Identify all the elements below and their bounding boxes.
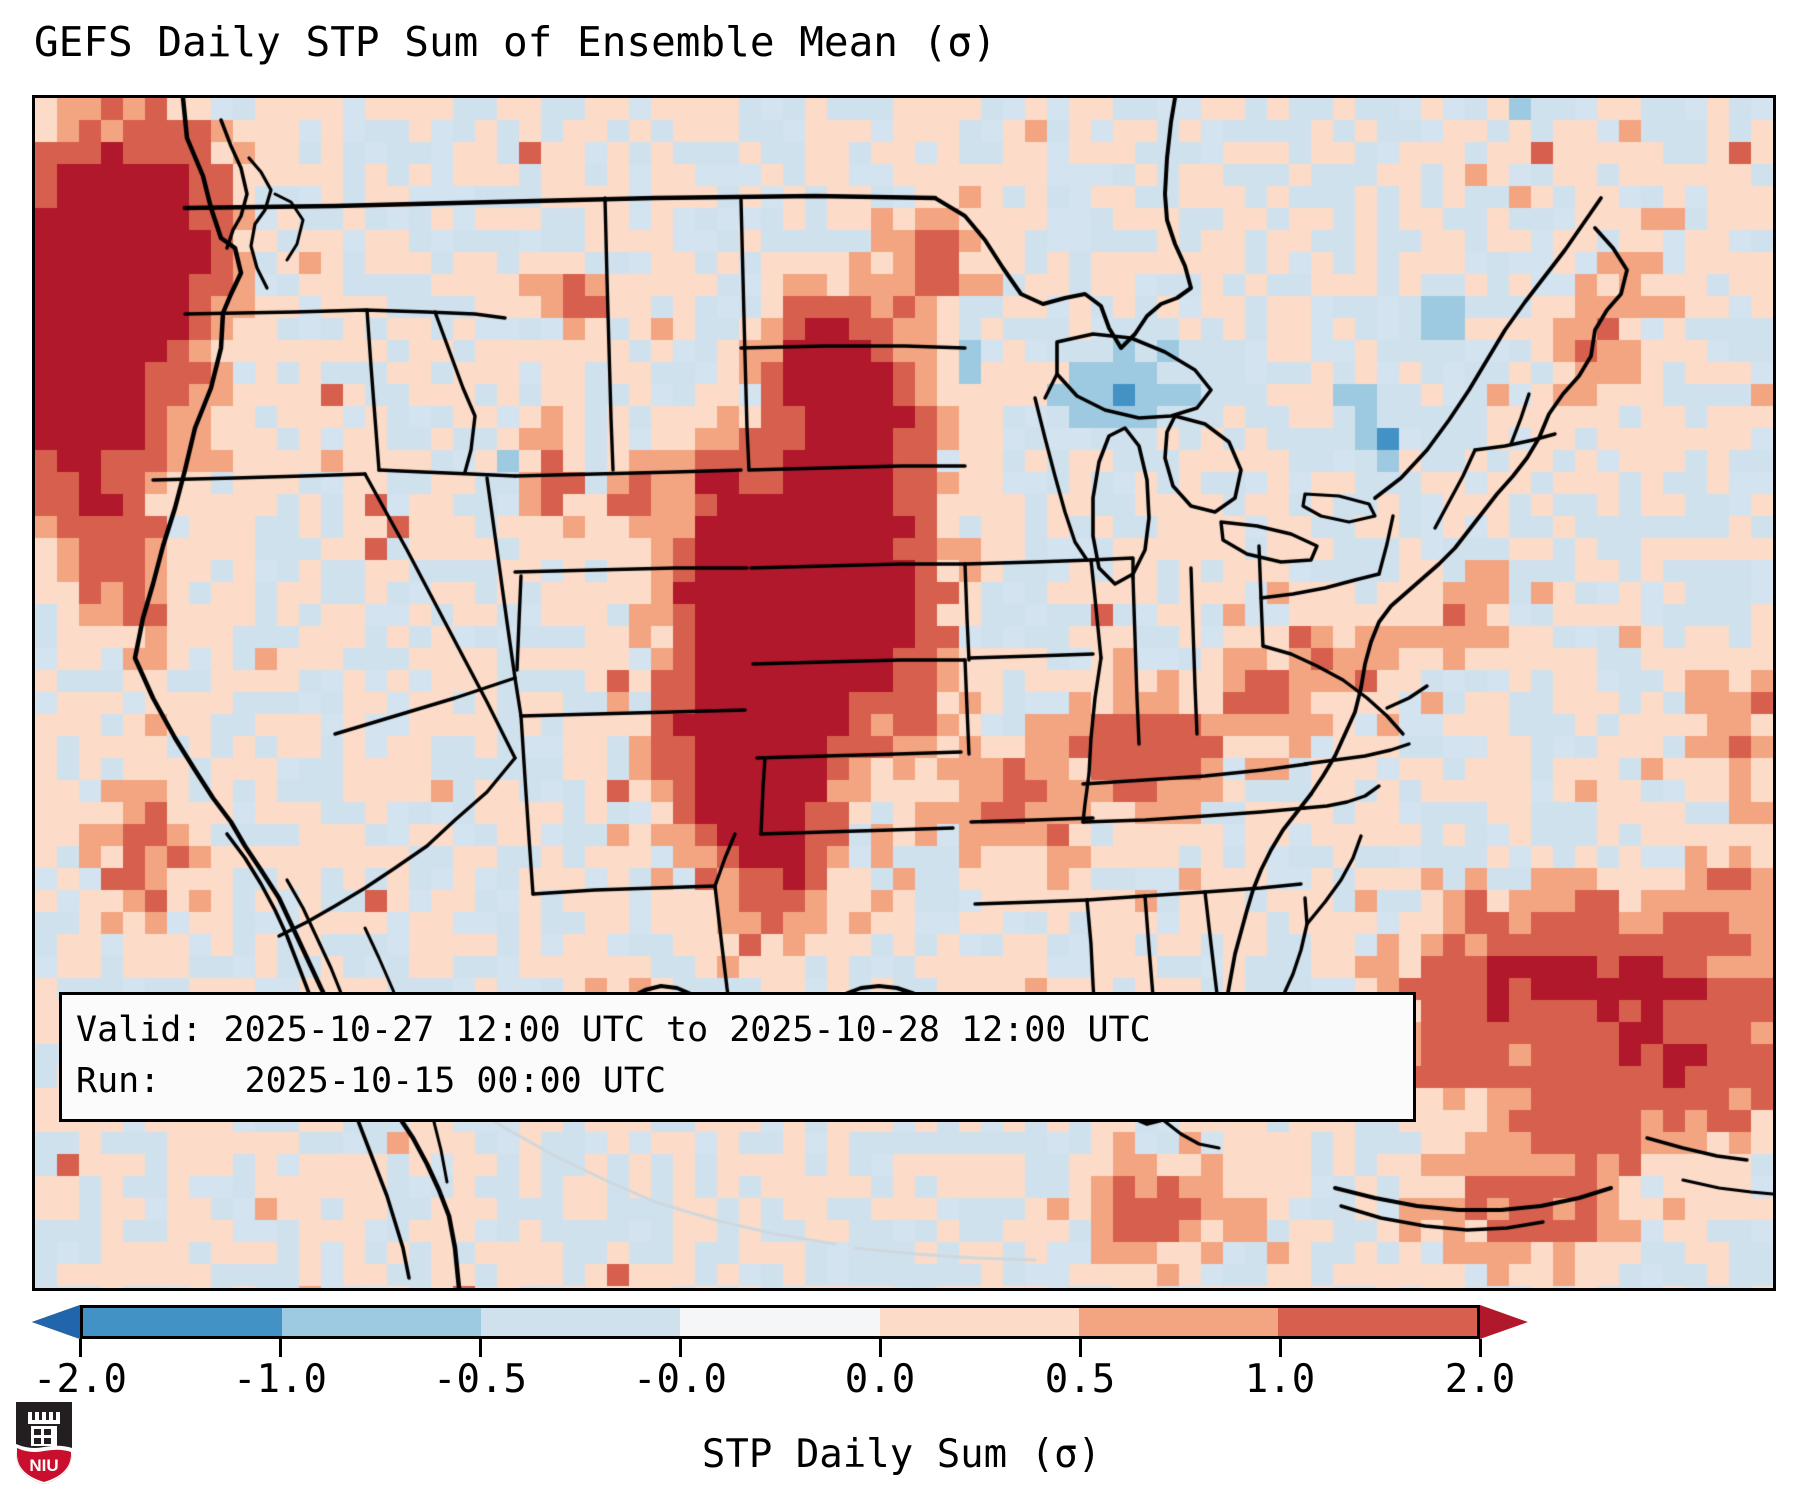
colorbar-tick-label-1: -1.0 — [233, 1357, 327, 1402]
forecast-info-box: Valid: 2025-10-27 12:00 UTC to 2025-10-2… — [59, 992, 1416, 1122]
colorbar-segment-0 — [83, 1308, 282, 1336]
niu-logo: NIU — [14, 1400, 74, 1486]
colorbar-tick-label-0: -2.0 — [33, 1357, 127, 1402]
colorbar-segment-6 — [1278, 1308, 1477, 1336]
colorbar-tick-label-7: 2.0 — [1445, 1357, 1515, 1402]
colorbar-tick-1 — [279, 1339, 282, 1357]
run-time-line: Run: 2025-10-15 00:00 UTC — [76, 1056, 1399, 1107]
colorbar-tick-labels: -2.0-1.0-0.5-0.00.00.51.02.0 — [80, 1357, 1480, 1403]
colorbar-ticks — [80, 1339, 1480, 1357]
colorbar-segment-5 — [1079, 1308, 1278, 1336]
valid-time-line: Valid: 2025-10-27 12:00 UTC to 2025-10-2… — [76, 1005, 1399, 1056]
colorbar-gradient-track — [80, 1305, 1480, 1339]
colorbar-axis-label: STP Daily Sum (σ) — [0, 1432, 1803, 1477]
colorbar-tick-3 — [679, 1339, 682, 1357]
colorbar-over-arrow — [1480, 1305, 1528, 1339]
colorbar-tick-label-4: 0.0 — [845, 1357, 915, 1402]
colorbar-tick-0 — [79, 1339, 82, 1357]
colorbar-tick-label-3: -0.0 — [633, 1357, 727, 1402]
colorbar-segment-3 — [680, 1308, 879, 1336]
colorbar-under-arrow — [32, 1305, 80, 1339]
colorbar-tick-6 — [1279, 1339, 1282, 1357]
colorbar-tick-4 — [879, 1339, 882, 1357]
colorbar-tick-2 — [479, 1339, 482, 1357]
colorbar-tick-7 — [1479, 1339, 1482, 1357]
colorbar-tick-label-5: 0.5 — [1045, 1357, 1115, 1402]
colorbar-segment-2 — [481, 1308, 680, 1336]
colorbar-segment-4 — [880, 1308, 1079, 1336]
colorbar-segment-1 — [282, 1308, 481, 1336]
colorbar-tick-label-2: -0.5 — [433, 1357, 527, 1402]
niu-logo-text: NIU — [29, 1456, 58, 1475]
page-title: GEFS Daily STP Sum of Ensemble Mean (σ) — [34, 18, 997, 66]
colorbar-tick-label-6: 1.0 — [1245, 1357, 1315, 1402]
colorbar: -2.0-1.0-0.5-0.00.00.51.02.0 — [32, 1305, 1776, 1355]
colorbar-tick-5 — [1079, 1339, 1082, 1357]
